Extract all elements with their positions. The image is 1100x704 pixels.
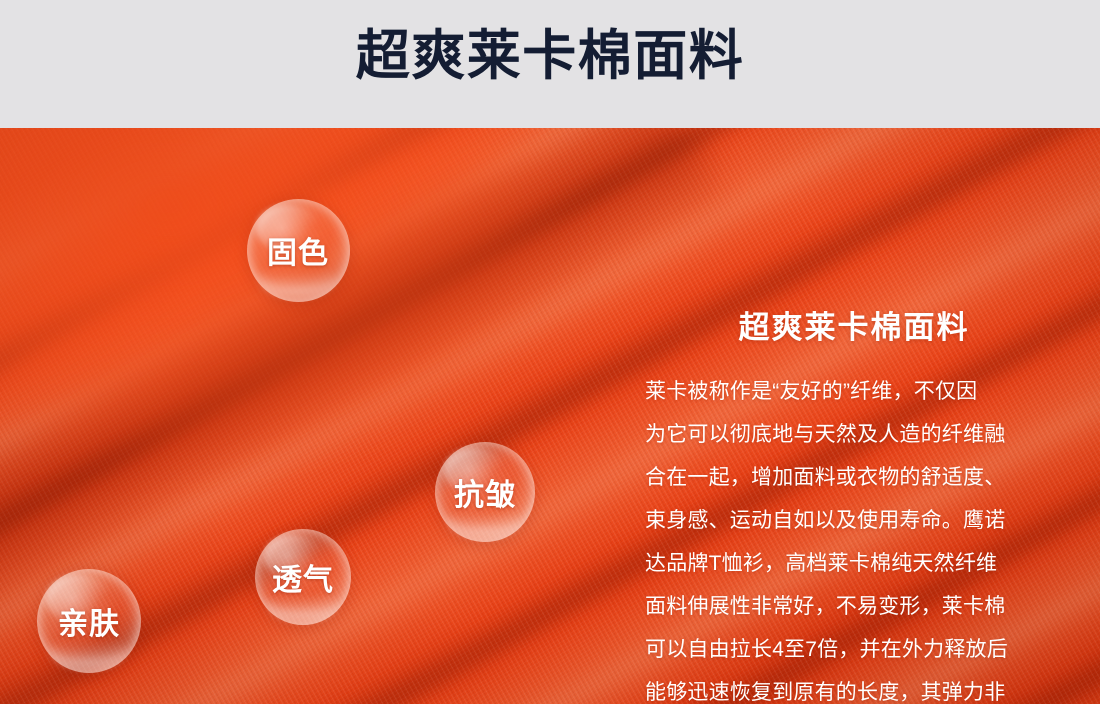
info-body-line: 面料伸展性非常好，不易变形，莱卡棉 [645, 585, 1063, 628]
info-body-line: 为它可以彻底地与天然及人造的纤维融 [645, 413, 1063, 456]
info-body-line: 合在一起，增加面料或衣物的舒适度、 [645, 456, 1063, 499]
info-body: 莱卡被称作是“友好的”纤维，不仅因 为它可以彻底地与天然及人造的纤维融 合在一起… [645, 370, 1063, 704]
product-detail-page: 超爽莱卡棉面料 固色 抗皱 [0, 0, 1100, 704]
info-heading: 超爽莱卡棉面料 [645, 308, 1063, 348]
info-body-line: 达品牌T恤衫，高档莱卡棉纯天然纤维 [645, 542, 1063, 585]
feature-bubble-label: 亲肤 [58, 599, 120, 643]
info-body-line: 能够迅速恢复到原有的长度，其弹力非 [645, 671, 1063, 704]
feature-bubble-label: 固色 [267, 228, 329, 272]
feature-bubble-label: 抗皱 [454, 470, 516, 514]
page-title: 超爽莱卡棉面料 [0, 23, 1100, 89]
info-body-line: 束身感、运动自如以及使用寿命。鹰诺 [645, 499, 1063, 542]
feature-bubble-kangzhou[interactable]: 抗皱 [435, 442, 535, 542]
fabric-photo: 固色 抗皱 透气 亲肤 超爽莱卡棉面料 莱卡被称作是“友好的”纤维，不仅因 为它… [0, 128, 1100, 704]
feature-bubble-qinfu[interactable]: 亲肤 [37, 569, 141, 673]
feature-bubble-touqi[interactable]: 透气 [255, 529, 351, 625]
info-panel: 超爽莱卡棉面料 莱卡被称作是“友好的”纤维，不仅因 为它可以彻底地与天然及人造的… [645, 308, 1063, 704]
header-band: 超爽莱卡棉面料 [0, 0, 1100, 128]
feature-bubble-gusee[interactable]: 固色 [247, 199, 350, 302]
info-body-line: 可以自由拉长4至7倍，并在外力释放后 [645, 628, 1063, 671]
info-body-line: 莱卡被称作是“友好的”纤维，不仅因 [645, 370, 1063, 413]
feature-bubble-label: 透气 [272, 555, 334, 599]
